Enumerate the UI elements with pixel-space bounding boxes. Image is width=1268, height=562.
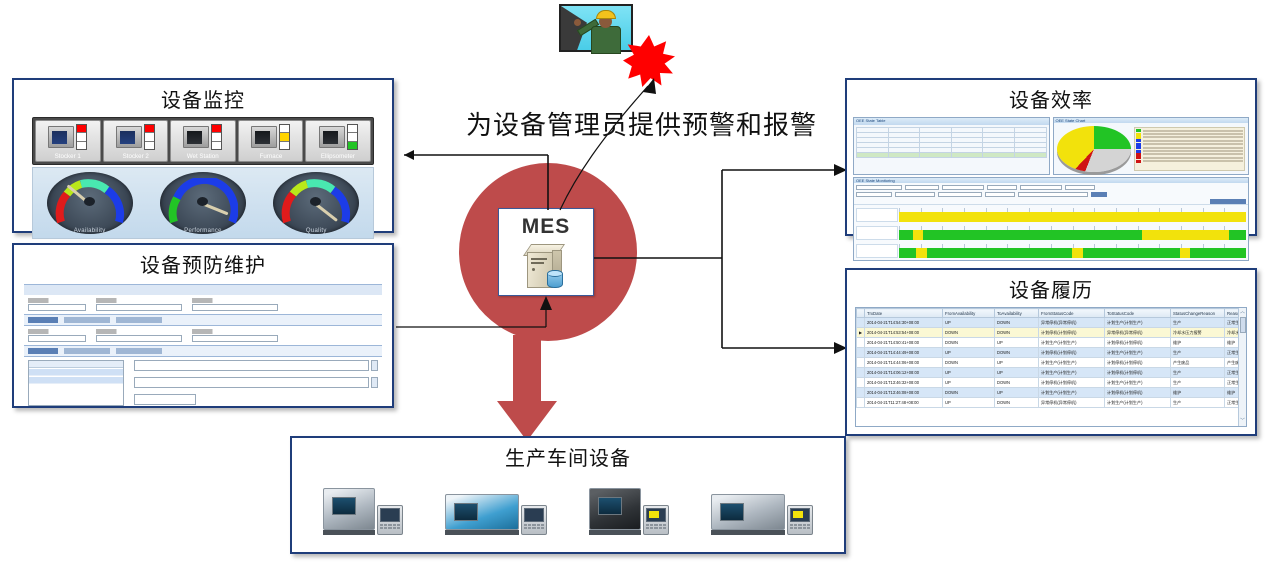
table-row[interactable]: 2014-04-21T14:54:30+08:00 UP DOWN 异常停机(异… — [857, 318, 1248, 328]
status-light-stack — [76, 124, 87, 150]
form-tab[interactable] — [116, 317, 162, 323]
oee-state-chart-window[interactable]: OEE State Chart — [1053, 117, 1250, 175]
machine-icon — [319, 126, 345, 148]
gauge-availability: Availability — [47, 170, 133, 236]
form-section-header — [24, 284, 382, 295]
machine-icon — [183, 126, 209, 148]
mes-system-box[interactable]: MES — [498, 208, 594, 296]
form-field[interactable] — [192, 304, 278, 311]
station-cell[interactable]: Ellipsometer — [305, 120, 371, 162]
panel-title-monitoring: 设备监控 — [14, 80, 392, 115]
oee-pie-chart — [1057, 126, 1131, 172]
gantt-row-label — [856, 244, 898, 258]
col-tostatuscode: ToStatusCode — [1105, 309, 1171, 318]
panel-equipment-history[interactable]: 设备履历 TrxDate FromAvailability ToAvailabi… — [845, 268, 1257, 436]
gantt-row — [856, 207, 1246, 223]
efficiency-table — [856, 127, 1047, 158]
scroll-up-arrow[interactable]: ︿ — [1240, 308, 1246, 315]
machine-group — [589, 488, 669, 535]
panel-equipment-monitoring[interactable]: 设备监控 Stocker 1 Stocker 2 — [12, 78, 394, 233]
station-label: Stocker 1 — [55, 153, 81, 160]
form-tab[interactable] — [28, 348, 58, 354]
station-label: Stocker 2 — [122, 153, 148, 160]
status-light-stack — [211, 124, 222, 150]
cnc-machining-center-icon — [589, 488, 641, 530]
form-tab[interactable] — [28, 317, 58, 323]
window-title: OEE State Table — [854, 118, 1049, 125]
row-marker-header — [857, 309, 865, 318]
panel-title-efficiency: 设备效率 — [847, 80, 1255, 115]
table-row[interactable]: 2014-04-21T14:50:41+08:00 DOWN UP 计划生产(计… — [857, 338, 1248, 348]
station-cell[interactable]: Furnace — [238, 120, 304, 162]
form-field[interactable] — [96, 304, 182, 311]
station-status-bar: Stocker 1 Stocker 2 Wet Station — [32, 117, 374, 165]
form-tab-strip[interactable] — [24, 314, 382, 326]
panel-preventive-maintenance[interactable]: 设备预防维护 — [12, 243, 394, 408]
gantt-row-label — [856, 208, 898, 222]
maintenance-form-screenshot[interactable] — [24, 284, 382, 409]
station-label: Wet Station — [187, 153, 219, 160]
machine-icon — [251, 126, 277, 148]
form-field[interactable] — [28, 335, 86, 342]
form-textarea[interactable] — [134, 394, 196, 405]
panel-shopfloor-equipment[interactable]: 生产车间设备 — [290, 436, 846, 554]
gantt-toolbar[interactable] — [854, 183, 1248, 205]
maintenance-item-list[interactable] — [28, 360, 124, 406]
gauge-performance: Performance — [160, 170, 246, 236]
status-light-stack — [144, 124, 155, 150]
table-row[interactable]: 2014-04-21T14:06:12+08:00 UP UP 计划生产(计划生… — [857, 368, 1248, 378]
table-row[interactable]: 2014-04-21T11:27:48+08:00 UP DOWN 异常停机(异… — [857, 398, 1248, 408]
list-item[interactable] — [29, 377, 123, 384]
form-textarea[interactable] — [134, 360, 369, 371]
hmi-panel-icon — [787, 505, 813, 535]
gauge-label: Quality — [273, 228, 359, 234]
cnc-machine-icon — [323, 488, 375, 530]
stepper-control[interactable] — [371, 360, 378, 371]
cnc-lathe-icon — [445, 494, 519, 530]
oee-state-monitoring-window[interactable]: OEE State Monitoring — [853, 177, 1249, 261]
table-row-selected[interactable]: ▶ 2014-04-21T14:53:54+08:00 DOWN DOWN 计划… — [857, 328, 1248, 338]
form-tab-strip-2[interactable] — [24, 345, 382, 357]
hmi-panel-icon — [643, 505, 669, 535]
gantt-row — [856, 243, 1246, 259]
form-tab[interactable] — [64, 317, 110, 323]
machine-icon — [116, 126, 142, 148]
gantt-row-label — [856, 226, 898, 240]
machine-group — [445, 494, 547, 535]
machine-icon — [48, 126, 74, 148]
table-row[interactable]: 2014-04-21T14:44:49+08:00 UP DOWN 计划停机(计… — [857, 348, 1248, 358]
station-cell[interactable]: Wet Station — [170, 120, 236, 162]
scrollbar-thumb[interactable] — [1240, 317, 1246, 333]
history-grid[interactable]: TrxDate FromAvailability ToAvailability … — [855, 307, 1247, 427]
table-row[interactable]: 2014-04-21T13:46:08+08:00 DOWN UP 计划生产(计… — [857, 388, 1248, 398]
form-textarea[interactable] — [134, 377, 369, 388]
form-field[interactable] — [28, 304, 86, 311]
form-field[interactable] — [192, 335, 278, 342]
table-header-row: TrxDate FromAvailability ToAvailability … — [857, 309, 1248, 318]
gantt-row — [856, 225, 1246, 241]
hub-to-shopfloor-arrow — [497, 335, 557, 445]
oee-state-table-window[interactable]: OEE State Table — [853, 117, 1050, 175]
station-cell[interactable]: Stocker 1 — [35, 120, 101, 162]
headline-text: 为设备管理员提供预警和报警 — [466, 105, 830, 142]
worker-clipart-icon — [559, 4, 633, 52]
oee-gauge-group: Availability Performance Quality — [32, 167, 374, 239]
col-fromavailability: FromAvailability — [943, 309, 995, 318]
panel-title-history: 设备履历 — [847, 270, 1255, 305]
panel-title-shopfloor: 生产车间设备 — [292, 438, 844, 473]
col-toavailability: ToAvailability — [995, 309, 1039, 318]
gauge-quality: Quality — [273, 170, 359, 236]
col-trxdate: TrxDate — [865, 309, 943, 318]
form-tab[interactable] — [64, 348, 110, 354]
gauge-label: Performance — [160, 228, 246, 234]
table-row[interactable]: 2014-04-21T14:44:06+08:00 DOWN UP 计划生产(计… — [857, 358, 1248, 368]
server-database-icon — [523, 242, 569, 290]
mes-label: MES — [522, 215, 571, 239]
form-field[interactable] — [96, 335, 182, 342]
station-cell[interactable]: Stocker 2 — [103, 120, 169, 162]
table-row[interactable]: 2014-04-21T13:46:32+08:00 UP DOWN 计划停机(计… — [857, 378, 1248, 388]
status-light-stack — [279, 124, 290, 150]
hmi-panel-icon — [377, 505, 403, 535]
search-button — [1210, 199, 1246, 204]
hmi-panel-icon — [521, 505, 547, 535]
gauge-label: Availability — [47, 228, 133, 234]
stepper-control[interactable] — [371, 377, 378, 388]
col-fromstatuscode: FromStatusCode — [1039, 309, 1105, 318]
history-table: TrxDate FromAvailability ToAvailability … — [856, 308, 1247, 408]
status-light-stack — [347, 124, 358, 150]
col-statuschangereason: StatusChangeReason — [1171, 309, 1225, 318]
list-item[interactable] — [29, 369, 123, 376]
gantt-rows — [854, 205, 1248, 261]
panel-title-maintenance: 设备预防维护 — [14, 245, 392, 280]
form-tab[interactable] — [116, 348, 162, 354]
station-label: Ellipsometer — [321, 153, 355, 160]
machine-group — [711, 494, 813, 535]
vertical-scrollbar[interactable]: ︿ ﹀ — [1238, 308, 1246, 426]
cnc-turning-center-icon — [711, 494, 785, 530]
station-label: Furnace — [259, 153, 282, 160]
panel-equipment-efficiency[interactable]: 设备效率 OEE State Table OEE State Chart — [845, 78, 1257, 236]
pie-legend — [1134, 127, 1246, 171]
scroll-down-arrow[interactable]: ﹀ — [1240, 417, 1245, 424]
machine-group — [323, 488, 403, 535]
machine-photo-row — [292, 473, 844, 535]
